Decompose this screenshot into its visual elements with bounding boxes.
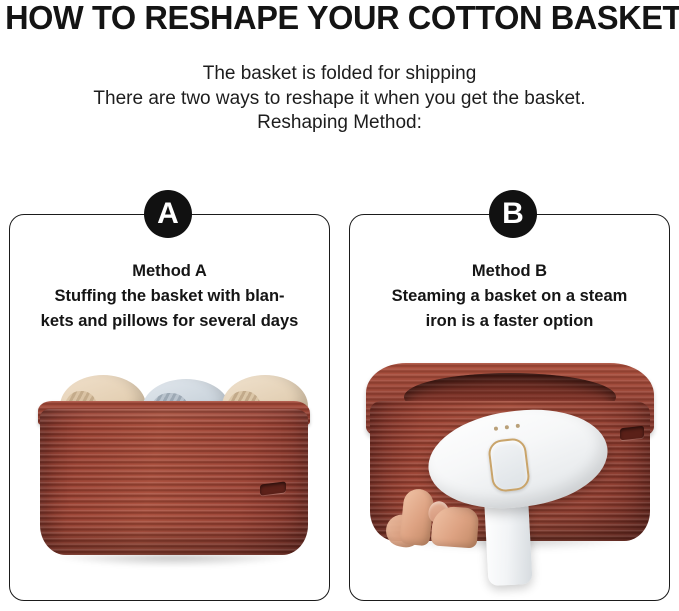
method-a-photo bbox=[10, 335, 329, 600]
method-b-body-line-2: iron is a faster option bbox=[360, 309, 659, 334]
method-b-photo bbox=[350, 335, 669, 600]
basket-body bbox=[40, 409, 308, 555]
page-title: HOW TO RESHAPE YOUR COTTON BASKET bbox=[5, 0, 674, 38]
method-a-badge: A bbox=[144, 190, 192, 238]
method-a-caption: Method A Stuffing the basket with blan- … bbox=[20, 259, 319, 334]
page-subtitle: The basket is folded for shipping There … bbox=[0, 62, 679, 136]
method-b-body-line-1: Steaming a basket on a steam bbox=[360, 284, 659, 309]
method-card-b: Method B Steaming a basket on a steam ir… bbox=[349, 214, 670, 601]
method-b-badge: B bbox=[489, 190, 537, 238]
method-a-body-line-1: Stuffing the basket with blan- bbox=[20, 284, 319, 309]
subtitle-line-2: There are two ways to reshape it when yo… bbox=[0, 87, 679, 112]
method-b-caption: Method B Steaming a basket on a steam ir… bbox=[360, 259, 659, 334]
subtitle-line-3: Reshaping Method: bbox=[0, 111, 679, 136]
cotton-basket-filled bbox=[24, 373, 320, 563]
method-a-body-line-2: kets and pillows for several days bbox=[20, 309, 319, 334]
steamer-power-button bbox=[487, 437, 531, 493]
infographic-page: HOW TO RESHAPE YOUR COTTON BASKET The ba… bbox=[0, 0, 679, 611]
method-a-body: Stuffing the basket with blan- kets and … bbox=[20, 284, 319, 334]
garment-steamer bbox=[428, 411, 608, 600]
method-b-title: Method B bbox=[360, 259, 659, 284]
method-b-body: Steaming a basket on a steam iron is a f… bbox=[360, 284, 659, 334]
method-a-title: Method A bbox=[20, 259, 319, 284]
subtitle-line-1: The basket is folded for shipping bbox=[0, 62, 679, 87]
basket-handle-cutout bbox=[620, 426, 644, 441]
basket-ground-shadow bbox=[54, 555, 294, 567]
method-card-a: Method A Stuffing the basket with blan- … bbox=[9, 214, 330, 601]
